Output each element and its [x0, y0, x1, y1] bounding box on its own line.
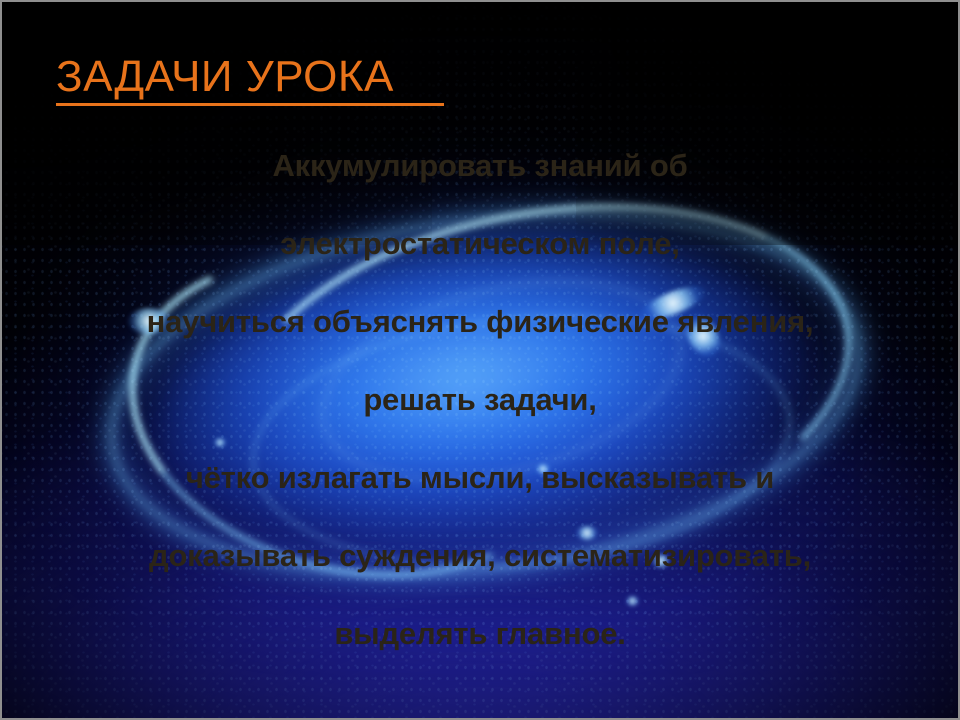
- slide-body-text: Аккумулировать знаний об электростатичес…: [2, 150, 958, 649]
- body-line-5: чётко излагать мысли, высказывать и: [2, 462, 958, 493]
- body-line-2: электростатическом поле,: [2, 228, 958, 259]
- slide-title-block: ЗАДАЧИ УРОКА: [56, 54, 444, 106]
- page-title: ЗАДАЧИ УРОКА: [56, 54, 444, 100]
- presentation-slide: ЗАДАЧИ УРОКА Аккумулировать знаний об эл…: [0, 0, 960, 720]
- body-line-3: научиться объяснять физические явления,: [2, 306, 958, 337]
- slide-content: ЗАДАЧИ УРОКА Аккумулировать знаний об эл…: [2, 2, 958, 718]
- body-line-1: Аккумулировать знаний об: [2, 150, 958, 181]
- body-line-4: решать задачи,: [2, 384, 958, 415]
- body-line-7: выделять главное.: [2, 618, 958, 649]
- title-underline-rule: [56, 103, 444, 106]
- body-line-6: доказывать суждения, систематизировать,: [2, 540, 958, 571]
